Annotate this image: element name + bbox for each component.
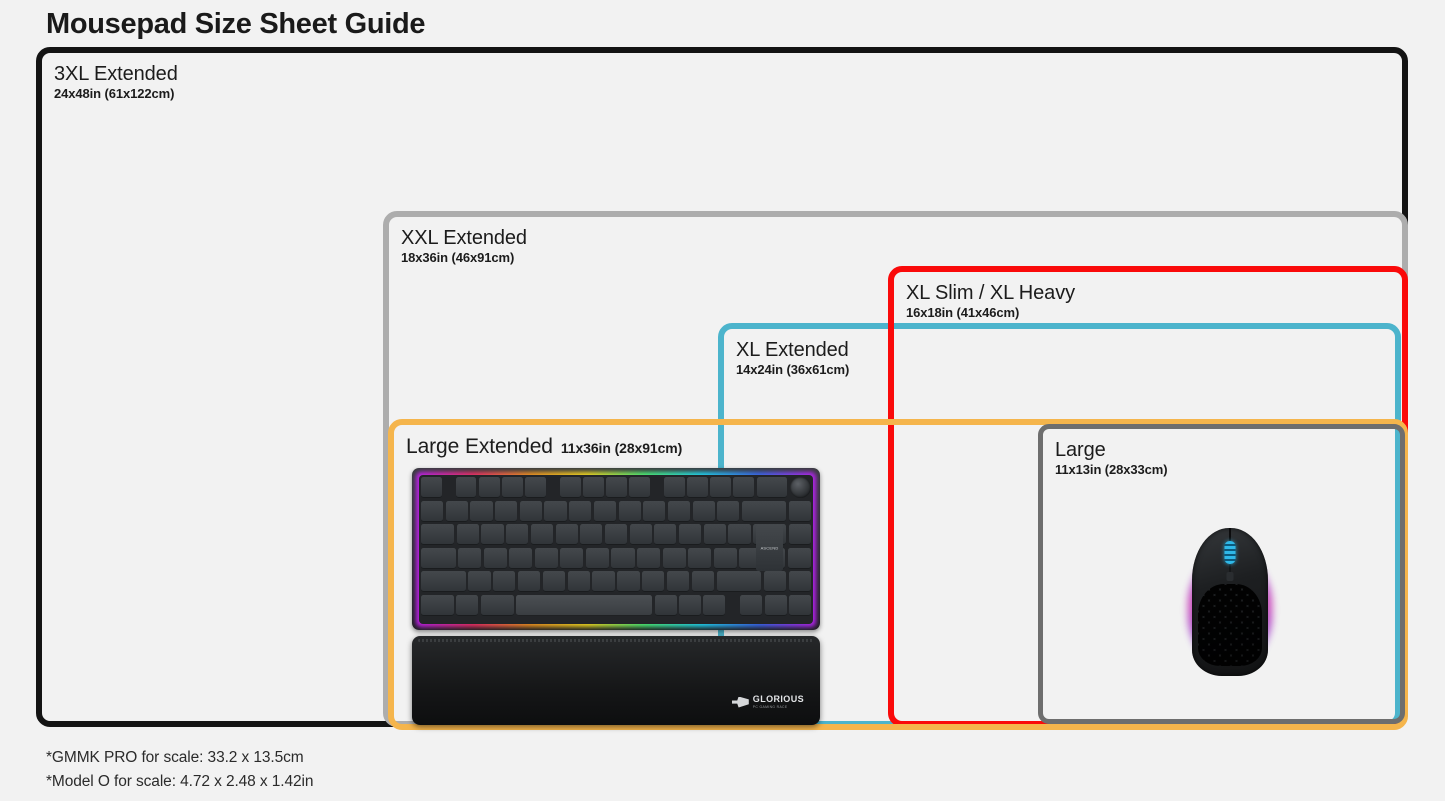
mouse-honeycomb-shell [1198,584,1262,666]
mouse-dpi-button [1227,572,1234,581]
wrist-rest-seam [418,639,814,642]
pad-name-3xl-extended: 3XL Extended [54,63,178,85]
keyboard-body: ASCEND [412,468,820,630]
footnote-mouse-scale: *Model O for scale: 4.72 x 2.48 x 1.42in [46,770,313,794]
wrist-rest: GLORIOUS PC GAMING RACE [412,636,820,725]
pad-dims-xxl-extended: 18x36in (46x91cm) [401,251,527,266]
pad-name-large-extended: Large Extended [406,435,553,459]
keyboard-enter-key-label: ASCEND [756,546,783,551]
glorious-tagline-text: PC GAMING RACE [753,706,804,709]
keyboard-enter-key: ASCEND [756,525,783,571]
footnote-keyboard-scale: *GMMK PRO for scale: 33.2 x 13.5cm [46,746,313,770]
keyboard-volume-knob [790,477,811,498]
glorious-mark-icon [732,697,749,708]
pad-label-xxl-extended: XXL Extended 18x36in (46x91cm) [401,227,527,266]
pad-name-large: Large [1055,439,1168,461]
pad-dims-large: 11x13in (28x33cm) [1055,463,1168,478]
pad-dims-xl-extended: 14x24in (36x61cm) [736,363,849,378]
mouse-image [1192,528,1268,676]
size-guide-canvas: Mousepad Size Sheet Guide 3XL Extended 2… [0,0,1445,801]
pad-dims-3xl-extended: 24x48in (61x122cm) [54,87,178,102]
pad-name-xxl-extended: XXL Extended [401,227,527,249]
pad-name-xl-slim-xl-heavy: XL Slim / XL Heavy [906,282,1075,304]
keyboard-keys [421,477,811,622]
glorious-wordmark: GLORIOUS PC GAMING RACE [753,695,804,709]
page-title: Mousepad Size Sheet Guide [46,8,425,41]
pad-label-large-extended: Large Extended 11x36in (28x91cm) [406,435,682,459]
mouse-scroll-wheel [1225,541,1236,564]
pad-label-large: Large 11x13in (28x33cm) [1055,439,1168,478]
mouse-shell [1192,528,1268,676]
pad-dims-large-extended: 11x36in (28x91cm) [561,441,682,457]
pad-name-xl-extended: XL Extended [736,339,849,361]
glorious-logo: GLORIOUS PC GAMING RACE [732,695,804,709]
pad-label-xl-extended: XL Extended 14x24in (36x61cm) [736,339,849,378]
glorious-brand-text: GLORIOUS [753,695,804,704]
pad-label-xl-slim-xl-heavy: XL Slim / XL Heavy 16x18in (41x46cm) [906,282,1075,321]
pad-label-3xl-extended: 3XL Extended 24x48in (61x122cm) [54,63,178,102]
keyboard-image: ASCEND GLORIOUS PC GAMING RACE [412,468,820,725]
footnotes: *GMMK PRO for scale: 33.2 x 13.5cm *Mode… [46,746,313,794]
pad-dims-xl-slim-xl-heavy: 16x18in (41x46cm) [906,306,1075,321]
